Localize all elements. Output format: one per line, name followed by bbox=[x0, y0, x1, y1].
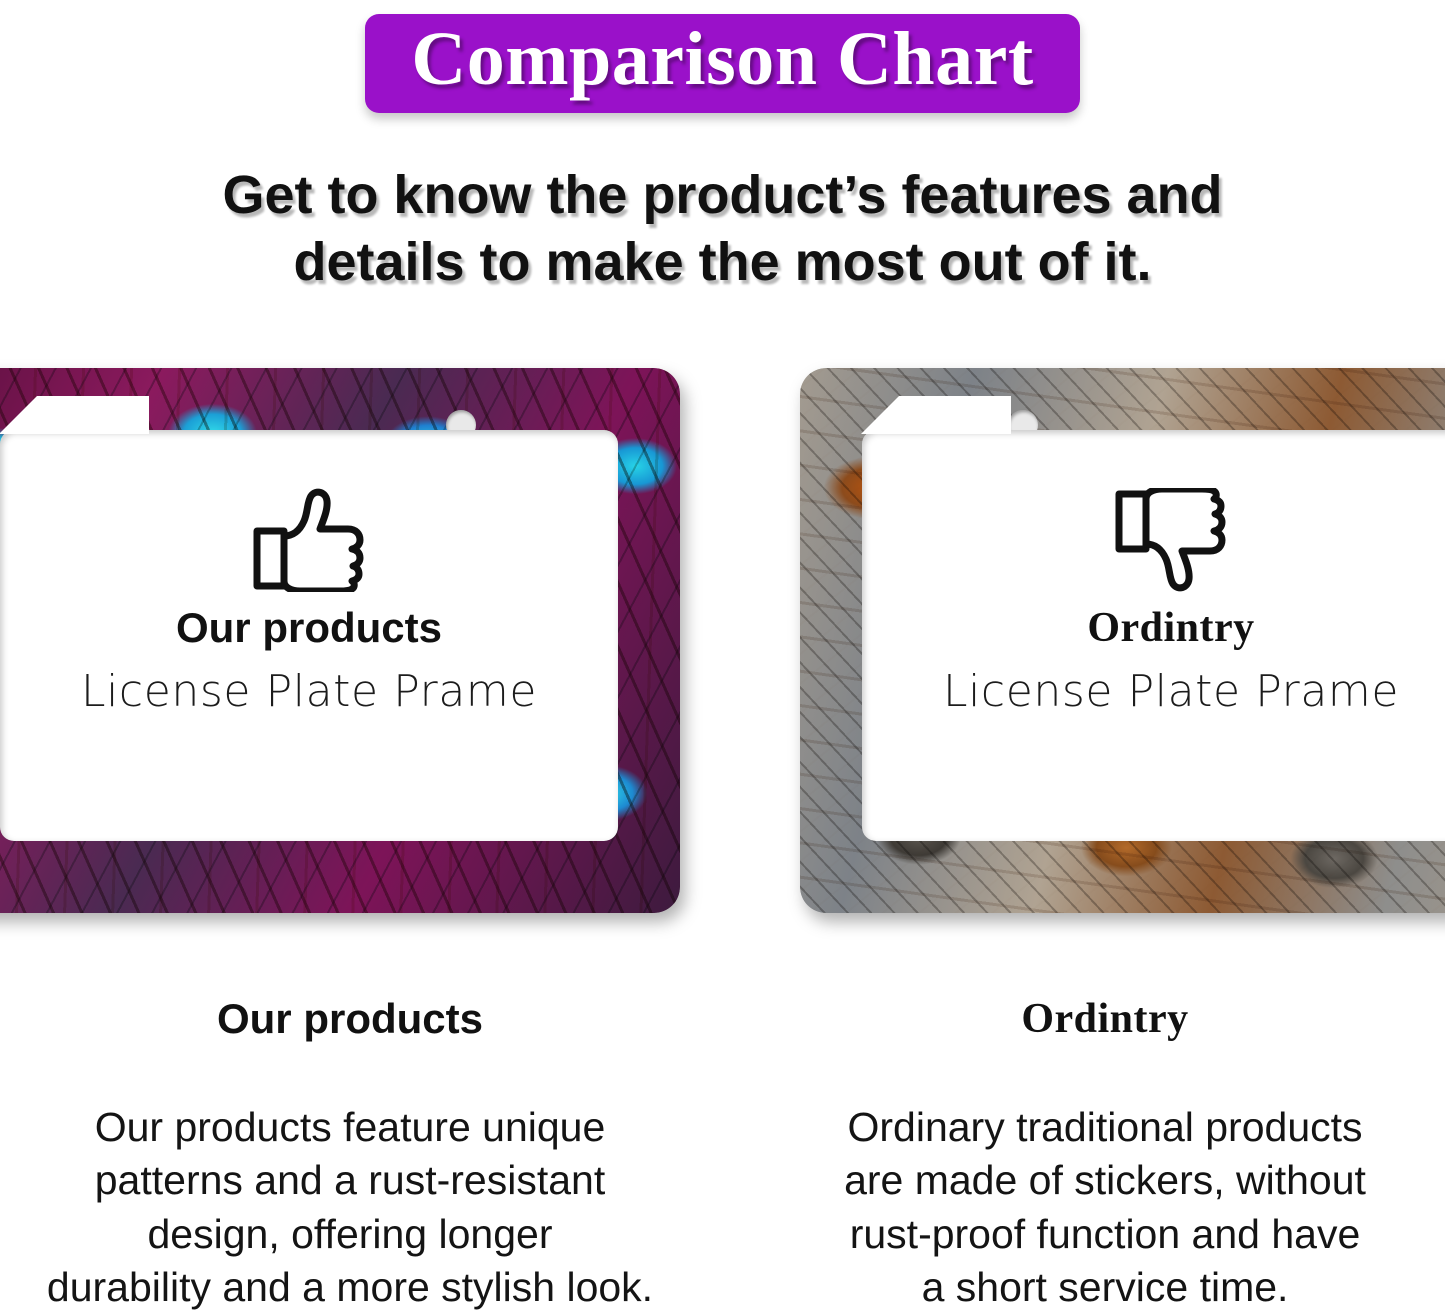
page-title: Comparison Chart bbox=[411, 20, 1033, 99]
right-plate-label: Ordintry bbox=[862, 604, 1445, 652]
detail-line: Ordinary traditional products bbox=[797, 1101, 1413, 1154]
detail-line: durability and a more stylish look. bbox=[42, 1261, 658, 1314]
detail-line: Our products feature unique bbox=[42, 1101, 658, 1154]
subtitle-line-2: details to make the most out of it. bbox=[90, 229, 1355, 296]
title-banner-container: Comparison Chart bbox=[0, 14, 1445, 113]
license-plate-window-left: Our products License Plate Prame bbox=[0, 430, 618, 841]
ordinary-product-detail-heading: Ordintry bbox=[775, 995, 1435, 1043]
ordinary-product-plate-frame: Ordintry License Plate Prame bbox=[800, 368, 1445, 913]
our-product-detail-column: Our products Our products feature unique… bbox=[20, 995, 680, 1314]
left-plate-sublabel: License Plate Prame bbox=[0, 666, 618, 717]
detail-line: patterns and a rust-resistant bbox=[42, 1154, 658, 1207]
comparison-chart-banner: Comparison Chart bbox=[365, 14, 1079, 113]
our-product-plate-frame: Our products License Plate Prame bbox=[0, 368, 680, 913]
detail-line: a short service time. bbox=[797, 1261, 1413, 1314]
thumbs-up-icon bbox=[250, 488, 368, 592]
ordinary-product-detail-text: Ordinary traditional products are made o… bbox=[775, 1101, 1435, 1314]
detail-line: are made of stickers, without bbox=[797, 1154, 1413, 1207]
our-product-detail-heading: Our products bbox=[20, 995, 680, 1043]
left-plate-label: Our products bbox=[0, 604, 618, 652]
ordinary-product-detail-column: Ordintry Ordinary traditional products a… bbox=[775, 995, 1435, 1314]
detail-line: rust-proof function and have bbox=[797, 1208, 1413, 1261]
license-plate-window-right: Ordintry License Plate Prame bbox=[862, 430, 1445, 841]
left-window-content: Our products License Plate Prame bbox=[0, 488, 618, 717]
comparison-frames-row: Our products License Plate Prame Ordintr… bbox=[0, 368, 1445, 928]
comparison-details-row: Our products Our products feature unique… bbox=[0, 995, 1445, 1315]
right-window-content: Ordintry License Plate Prame bbox=[862, 488, 1445, 717]
detail-line: design, offering longer bbox=[42, 1208, 658, 1261]
our-product-detail-text: Our products feature unique patterns and… bbox=[20, 1101, 680, 1314]
right-plate-sublabel: License Plate Prame bbox=[862, 666, 1445, 717]
page-subtitle: Get to know the product’s features and d… bbox=[0, 162, 1445, 296]
thumbs-down-icon bbox=[1112, 488, 1230, 592]
subtitle-line-1: Get to know the product’s features and bbox=[90, 162, 1355, 229]
